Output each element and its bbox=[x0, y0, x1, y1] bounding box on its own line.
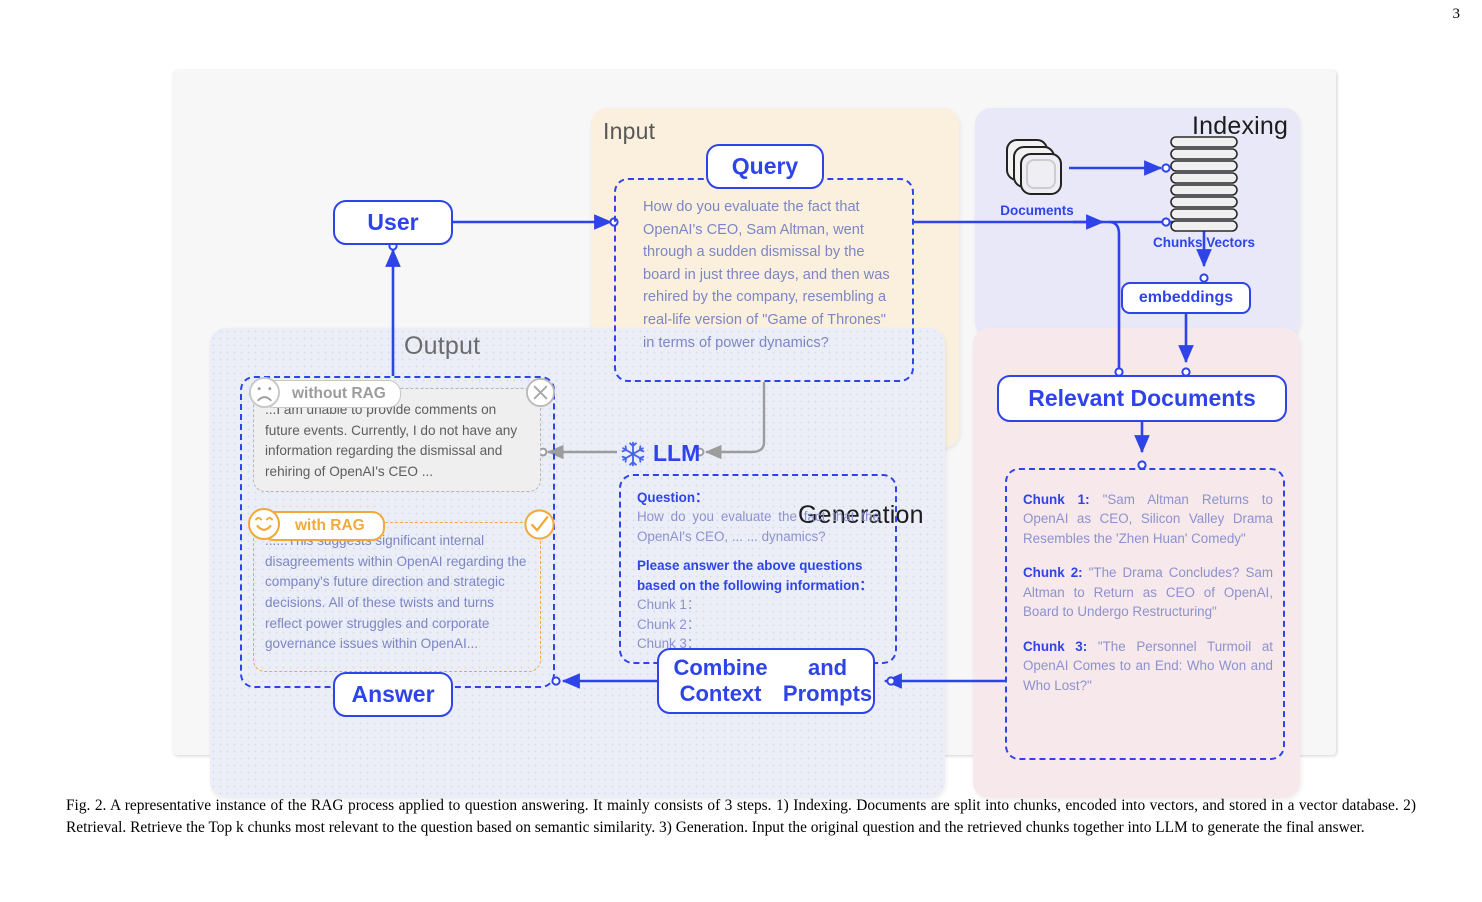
chunks-vectors-label: Chunks Vectors bbox=[1128, 235, 1280, 250]
with-rag-text: ......This suggests significant internal… bbox=[265, 531, 533, 655]
label-output: Output bbox=[404, 332, 480, 361]
node-answer[interactable]: Answer bbox=[333, 672, 453, 717]
combine-line-1: Combine Context bbox=[659, 655, 782, 707]
happy-face-icon bbox=[247, 507, 281, 541]
label-input: Input bbox=[603, 118, 655, 145]
question-heading: Question： bbox=[637, 488, 880, 507]
close-icon bbox=[525, 377, 556, 408]
sad-face-icon bbox=[248, 376, 281, 409]
chunk-slot: Chunk 2： bbox=[637, 615, 880, 634]
chunk-label: Chunk 1: bbox=[1023, 492, 1090, 507]
combine-line-2: and Prompts bbox=[782, 655, 873, 707]
node-user[interactable]: User bbox=[333, 200, 453, 245]
node-combine-context[interactable]: Combine Context and Prompts bbox=[657, 648, 875, 714]
list-item: Chunk 3: "The Personnel Turmoil at OpenA… bbox=[1023, 637, 1273, 695]
without-rag-tag: without RAG bbox=[261, 380, 401, 408]
without-rag-text: ...I am unable to provide comments on fu… bbox=[265, 400, 529, 483]
vectors-stack-icon bbox=[1168, 136, 1240, 234]
instruction-text: Please answer the above questions based … bbox=[637, 556, 880, 595]
node-query[interactable]: Query bbox=[706, 144, 824, 189]
documents-label: Documents bbox=[989, 203, 1085, 218]
node-embeddings[interactable]: embeddings bbox=[1121, 282, 1251, 314]
llm-node[interactable]: LLM bbox=[620, 440, 700, 467]
chunk-label: Chunk 2: bbox=[1023, 565, 1083, 580]
check-icon bbox=[523, 508, 556, 541]
chunk-label: Chunk 3: bbox=[1023, 639, 1087, 654]
snowflake-icon bbox=[620, 441, 646, 467]
chunk-slot: Chunk 1： bbox=[637, 595, 880, 614]
prompt-text: Question： How do you evaluate the fact t… bbox=[637, 488, 880, 654]
page-number: 3 bbox=[1453, 6, 1461, 23]
llm-label: LLM bbox=[653, 440, 700, 467]
figure-canvas: Input Indexing Retrieval Generation Outp… bbox=[173, 70, 1336, 755]
list-item: Chunk 2: "The Drama Concludes? Sam Altma… bbox=[1023, 563, 1273, 621]
chunk-list: Chunk 1: "Sam Altman Returns to OpenAI a… bbox=[1023, 490, 1273, 710]
query-text: How do you evaluate the fact that OpenAI… bbox=[643, 196, 895, 354]
documents-icon bbox=[1003, 138, 1069, 198]
list-item: Chunk 1: "Sam Altman Returns to OpenAI a… bbox=[1023, 490, 1273, 548]
node-relevant-documents[interactable]: Relevant Documents bbox=[997, 375, 1287, 422]
figure-caption: Fig. 2. A representative instance of the… bbox=[66, 795, 1416, 839]
question-text: How do you evaluate the fact that the Op… bbox=[637, 507, 880, 546]
